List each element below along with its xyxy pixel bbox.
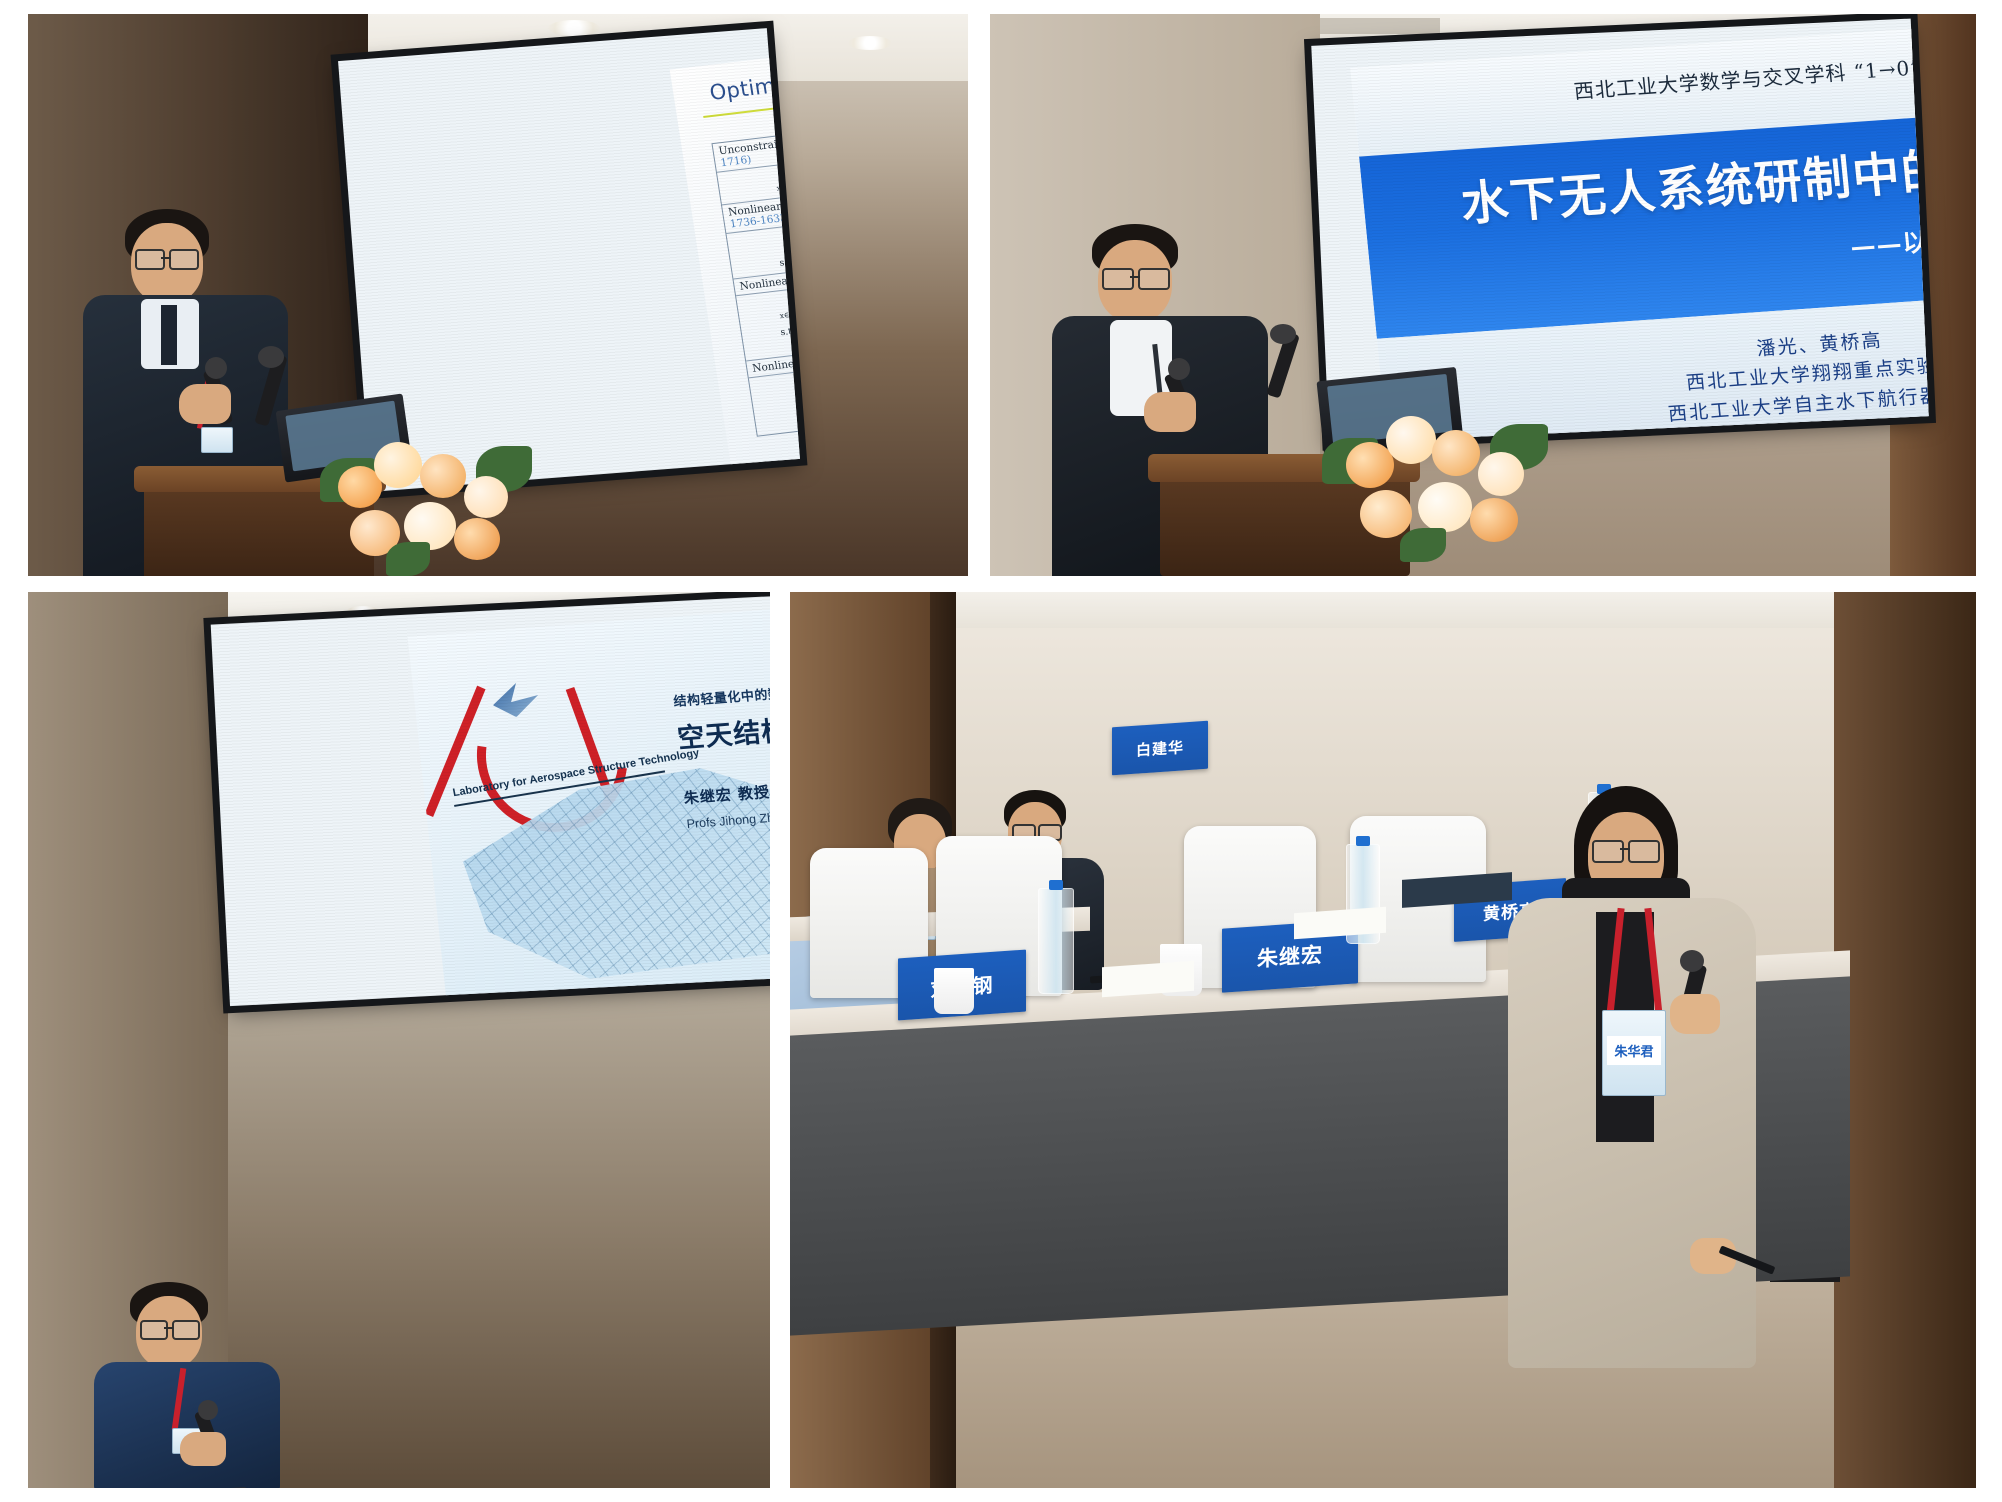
glasses-bridge — [1620, 848, 1630, 850]
badge: 朱华君 — [1602, 1010, 1666, 1096]
photo-top-left: Optimality Conditions for Nolinear Progr… — [28, 14, 968, 576]
photo-top-right: 西北工业大学数学与交叉学科 “1→0” 学术论坛 水下无人系统研制中的科学问题 … — [990, 14, 1976, 576]
water-bottle[interactable] — [1038, 888, 1074, 994]
glasses-bridge — [1130, 276, 1140, 278]
hand — [179, 384, 231, 424]
glasses-icon — [169, 249, 199, 270]
glasses-bridge — [161, 257, 171, 259]
speaker-person — [94, 1282, 284, 1488]
flower-bouquet — [316, 414, 536, 574]
glasses-bridge — [164, 1327, 173, 1329]
torso-jacket — [94, 1362, 280, 1488]
name-placard: 白建华 — [1112, 721, 1208, 776]
microphone-head — [1168, 358, 1190, 380]
ceiling — [790, 592, 1976, 628]
hand — [180, 1432, 226, 1466]
slide-eyebrow: 结构轻量化中的数学力学问题 — [672, 678, 770, 710]
ceiling-light — [548, 20, 600, 36]
projection-screen: ✦ Laboratory for Aerospace Structure Tec… — [211, 596, 770, 1006]
slide-aerospace-structure: ✦ Laboratory for Aerospace Structure Tec… — [408, 596, 770, 1006]
microphone-head — [205, 357, 227, 379]
ceiling-light — [848, 36, 892, 50]
microphone-head — [198, 1400, 218, 1420]
glasses-icon — [172, 1320, 200, 1340]
paper-cup[interactable] — [934, 968, 974, 1014]
photo-collage-page: Optimality Conditions for Nolinear Progr… — [0, 0, 2002, 1502]
glasses-icon — [135, 249, 165, 270]
microphone-head — [1680, 950, 1704, 972]
glasses-icon — [1592, 840, 1624, 863]
badge-name: 朱华君 — [1607, 1036, 1662, 1065]
flower-bouquet — [1320, 386, 1550, 566]
photo-bottom-left: ✦ Laboratory for Aerospace Structure Tec… — [28, 592, 770, 1488]
hand — [1670, 994, 1720, 1034]
wall-panel — [1834, 592, 1976, 1488]
podium-microphone-head — [258, 346, 284, 368]
ceiling-vent — [1320, 18, 1440, 34]
star-icon: ✦ — [565, 686, 579, 705]
hand — [1144, 392, 1196, 432]
female-speaker: 朱华君 — [1478, 786, 1778, 1486]
glasses-icon — [1138, 268, 1170, 290]
glasses-icon — [140, 1320, 168, 1340]
podium-microphone-head — [1270, 324, 1296, 344]
glasses-icon — [1628, 840, 1660, 863]
badge — [201, 427, 233, 453]
photo-bottom-right: 刘铁钢 朱继宏 黄桥高 白建华 朱华君 — [790, 592, 1976, 1488]
tie — [161, 305, 177, 365]
glasses-icon — [1102, 268, 1134, 290]
